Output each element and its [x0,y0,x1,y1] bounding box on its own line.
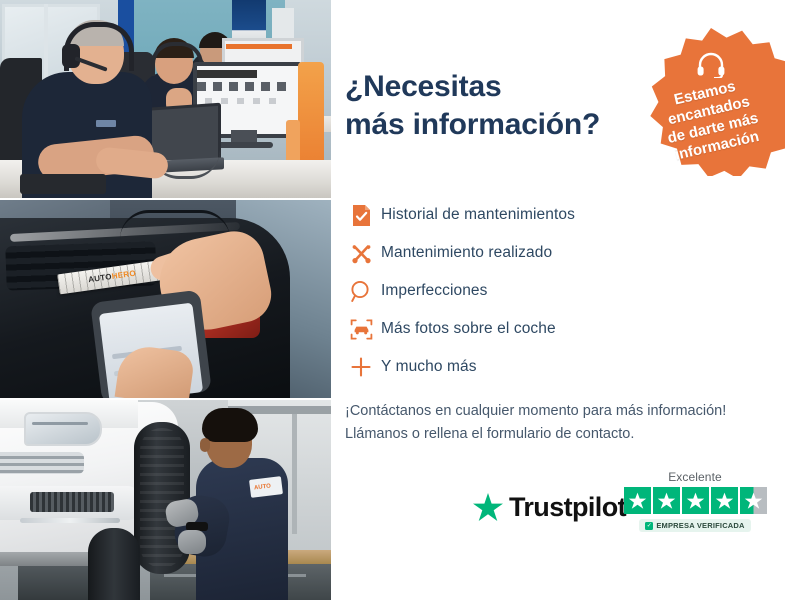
feature-label: Imperfecciones [381,282,488,300]
headset-icon [696,52,726,83]
verified-company-badge: ✓ EMPRESA VERIFICADA [639,519,750,532]
page-title-line-1: ¿Necesitas [345,68,645,106]
feature-item-fotos: Más fotos sobre el coche [341,310,671,348]
feature-label: Más fotos sobre el coche [381,320,556,338]
document-check-icon [341,204,381,227]
car-photo-frame-icon [341,318,381,341]
star-1 [624,487,651,514]
trustpilot-star-icon [473,493,503,522]
verified-label: EMPRESA VERIFICADA [656,521,744,530]
car-inspection-photo: AUTOHERO [0,200,331,398]
info-starburst-badge: Estamos encantados de darte más informac… [637,28,785,176]
photo-column: AUTOHERO AUTO [0,0,331,600]
magnifier-icon [341,280,381,303]
wheel-inspection-photo: AUTO [0,400,331,600]
feature-label: Mantenimiento realizado [381,244,552,262]
star-2 [653,487,680,514]
page-title: ¿Necesitas más información? [345,68,645,145]
crossed-tools-icon [341,242,381,265]
star-rating [620,487,770,514]
call-center-agent-photo [0,0,331,198]
contact-line-2: Llámanos o rellena el formulario de cont… [345,423,785,446]
page-title-line-2: más información? [345,106,645,144]
star-3 [682,487,709,514]
feature-item-mas: Y mucho más [341,348,671,386]
feature-label: Historial de mantenimientos [381,206,575,224]
contact-line-1: ¡Contáctanos en cualquier momento para m… [345,400,785,423]
contact-paragraph: ¡Contáctanos en cualquier momento para m… [345,400,785,447]
feature-item-mantenimiento: Mantenimiento realizado [341,234,671,272]
plus-icon [341,356,381,378]
trustpilot-rating: Excelente ✓ EMPRESA VERIFICADA [620,470,770,532]
rating-label: Excelente [620,470,770,484]
verified-check-icon: ✓ [645,522,653,530]
trustpilot-brand: Trustpilot [509,492,626,523]
feature-item-historial: Historial de mantenimientos [341,196,671,234]
star-5-half [740,487,767,514]
feature-list: Historial de mantenimientos M [341,196,671,386]
content-panel: ¿Necesitas más información? Estamos enca… [331,0,799,600]
feature-item-imperfecciones: Imperfecciones [341,272,671,310]
trustpilot-logo[interactable]: Trustpilot [473,492,626,523]
star-4 [711,487,738,514]
feature-label: Y mucho más [381,358,477,376]
trustpilot-widget[interactable]: Trustpilot Excelente ✓ EMPRESA VERIFICAD… [473,470,773,560]
promo-banner: AUTOHERO AUTO [0,0,799,600]
